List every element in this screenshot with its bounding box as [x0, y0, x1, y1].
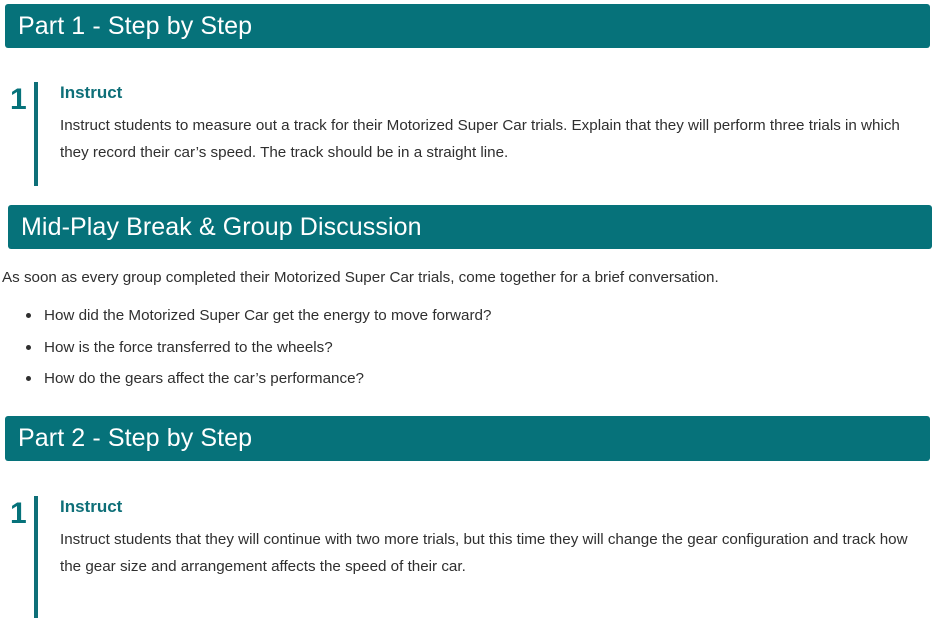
step-content: Instruct Instruct students that they wil…: [60, 496, 918, 580]
step-vertical-rule: [34, 82, 38, 186]
step-content: Instruct Instruct students to measure ou…: [60, 82, 918, 166]
section-banner-title: Mid-Play Break & Group Discussion: [21, 215, 422, 240]
bullet-icon: [26, 313, 31, 318]
bullet-icon: [26, 345, 31, 350]
discussion-question-text: How did the Motorized Super Car get the …: [44, 307, 491, 324]
bullet-icon: [26, 376, 31, 381]
lesson-plan-page: Part 1 - Step by Step 1 Instruct Instruc…: [0, 0, 936, 623]
section-banner-mid-play: Mid-Play Break & Group Discussion: [8, 205, 932, 249]
list-item: How do the gears affect the car’s perfor…: [2, 363, 882, 395]
section-banner-part-2: Part 2 - Step by Step: [5, 416, 930, 461]
section-banner-title: Part 1 - Step by Step: [18, 14, 252, 39]
step-heading: Instruct: [60, 497, 918, 517]
step-block-part-2: 1 Instruct Instruct students that they w…: [2, 496, 918, 618]
step-block-part-1: 1 Instruct Instruct students to measure …: [2, 82, 918, 186]
step-number: 1: [2, 82, 34, 115]
step-heading: Instruct: [60, 83, 918, 103]
section-banner-title: Part 2 - Step by Step: [18, 426, 252, 451]
discussion-question-text: How is the force transferred to the whee…: [44, 339, 333, 356]
discussion-question-list: How did the Motorized Super Car get the …: [2, 300, 882, 395]
section-banner-part-1: Part 1 - Step by Step: [5, 4, 930, 48]
step-description: Instruct students to measure out a track…: [60, 112, 918, 166]
mid-play-intro-text: As soon as every group completed their M…: [2, 266, 930, 290]
step-description: Instruct students that they will continu…: [60, 526, 918, 580]
discussion-question-text: How do the gears affect the car’s perfor…: [44, 370, 364, 387]
list-item: How did the Motorized Super Car get the …: [2, 300, 882, 332]
list-item: How is the force transferred to the whee…: [2, 332, 882, 364]
step-number: 1: [2, 496, 34, 529]
step-vertical-rule: [34, 496, 38, 618]
